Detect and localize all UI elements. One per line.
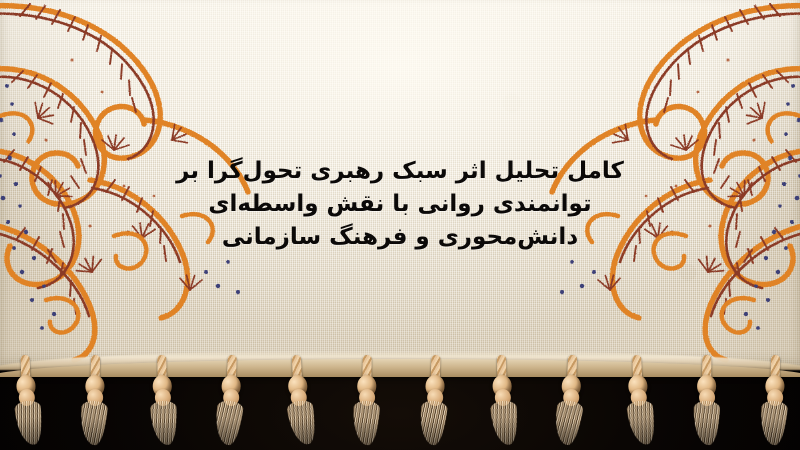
tassel-skirt	[79, 400, 108, 446]
tassel-skirt	[626, 399, 657, 446]
tassel-skirt	[418, 400, 448, 446]
title-line-2: توانمندی روانی با نقش واسطه‌ای	[0, 188, 800, 221]
tassel-skirt	[693, 401, 720, 446]
tassel	[9, 354, 46, 450]
tassel	[417, 354, 454, 450]
title-line-1: کامل تحلیل اثر سبک رهبری تحول‌گرا بر	[0, 155, 800, 188]
tassel	[349, 355, 384, 450]
tassel-skirt	[759, 400, 788, 446]
tassel-skirt	[14, 400, 44, 446]
tassel-skirt	[490, 400, 519, 446]
tassel-fringe	[0, 355, 800, 450]
tassel-skirt	[286, 399, 318, 446]
tassel	[212, 354, 250, 450]
tassel	[145, 355, 180, 450]
tassel	[690, 355, 725, 450]
tassel-skirt	[150, 400, 178, 445]
tassel	[757, 355, 793, 450]
tassel-skirt	[213, 399, 244, 446]
tassel-skirt	[552, 399, 584, 446]
title-line-3: دانش‌محوری و فرهنگ سازمانی	[0, 221, 800, 254]
tassel	[485, 355, 521, 450]
tassel	[552, 354, 590, 450]
tassel-skirt	[352, 400, 380, 445]
tassel	[620, 354, 658, 450]
title-slide: کامل تحلیل اثر سبک رهبری تحول‌گرا بر توا…	[0, 0, 800, 450]
tassel	[280, 354, 318, 450]
tassel	[77, 355, 113, 450]
slide-title: کامل تحلیل اثر سبک رهبری تحول‌گرا بر توا…	[0, 155, 800, 254]
